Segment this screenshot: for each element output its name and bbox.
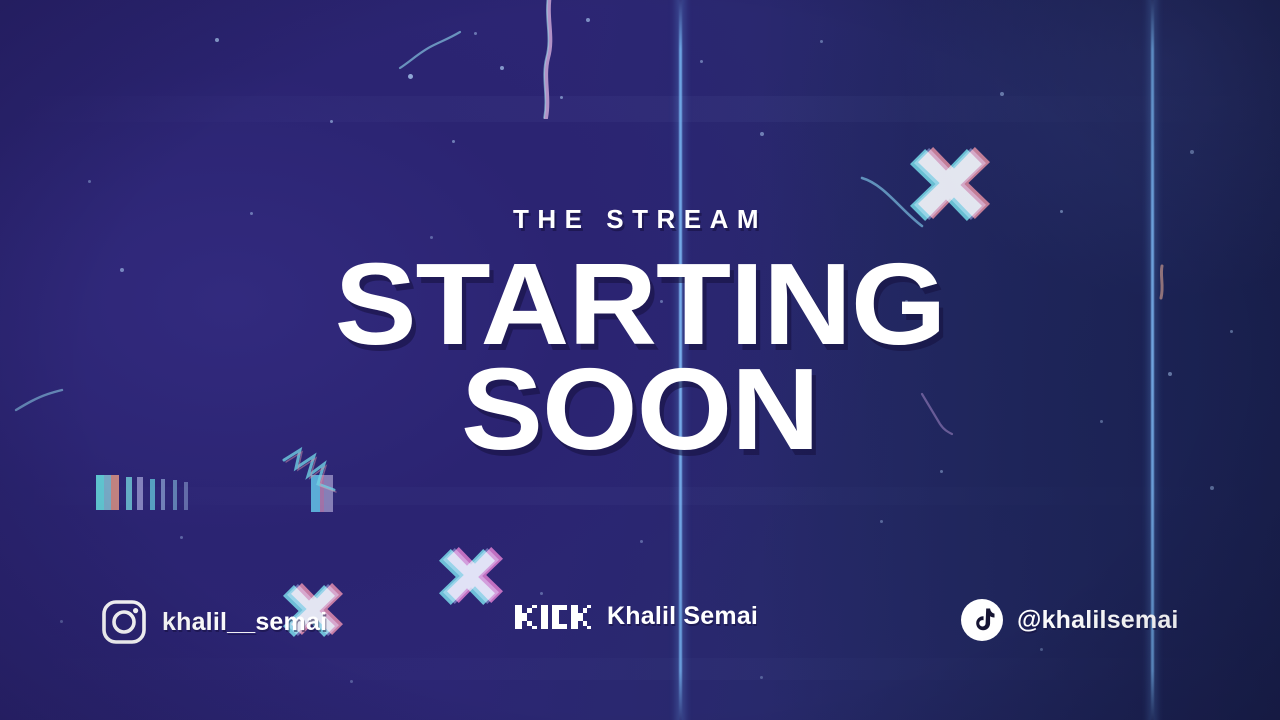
glitch-bar: [320, 475, 324, 512]
kick-logo: [515, 605, 591, 629]
glitch-bar: [126, 477, 132, 510]
x-glitch-cyan-layer: [439, 549, 495, 605]
x-glitch-small-center: [443, 548, 499, 604]
glitch-bar: [173, 480, 177, 510]
social-link-kick[interactable]: Khalil Semai: [515, 602, 758, 631]
social-footer: khalil__semai: [0, 598, 1280, 658]
headline-block: THE STREAM STARTING SOON: [0, 206, 1280, 459]
glitch-bar: [137, 477, 143, 510]
kicker-text: THE STREAM: [0, 206, 1280, 232]
stream-overlay-stage: THE STREAM STARTING SOON khalil__semai: [0, 0, 1280, 720]
kick-handle: Khalil Semai: [607, 602, 758, 631]
glitch-bar: [119, 475, 126, 510]
glitch-bar: [132, 477, 137, 510]
glitch-bar: [324, 475, 333, 512]
glitch-bar: [143, 477, 150, 510]
instagram-icon: [100, 598, 148, 646]
page-title: STARTING SOON: [0, 256, 1280, 459]
glitch-bar: [111, 475, 119, 510]
tiktok-handle: @khalilsemai: [1017, 606, 1179, 635]
barcode-glitch-left: [96, 470, 188, 510]
glitch-bar: [165, 480, 173, 510]
glitch-bar: [184, 482, 188, 510]
tiktok-icon: [960, 598, 1004, 642]
glitch-bar: [177, 480, 184, 510]
social-link-tiktok[interactable]: @khalilsemai: [960, 598, 1179, 642]
x-glitch-magenta-layer: [447, 547, 503, 603]
scratch-line-top-center: [520, 0, 570, 119]
social-link-instagram[interactable]: khalil__semai: [100, 598, 327, 646]
headline-line-2: SOON: [0, 361, 1280, 458]
instagram-handle: khalil__semai: [162, 608, 327, 637]
glitch-bar: [155, 479, 161, 510]
x-glitch-base-layer: [443, 548, 499, 604]
glitch-bar: [150, 479, 155, 510]
glitch-bar: [311, 475, 320, 512]
glitch-bar: [161, 479, 165, 510]
glitch-bar: [104, 475, 111, 510]
glitch-bar: [96, 475, 104, 510]
barcode-glitch-mid: [311, 472, 333, 512]
scratch-line-top-left: [398, 22, 468, 82]
